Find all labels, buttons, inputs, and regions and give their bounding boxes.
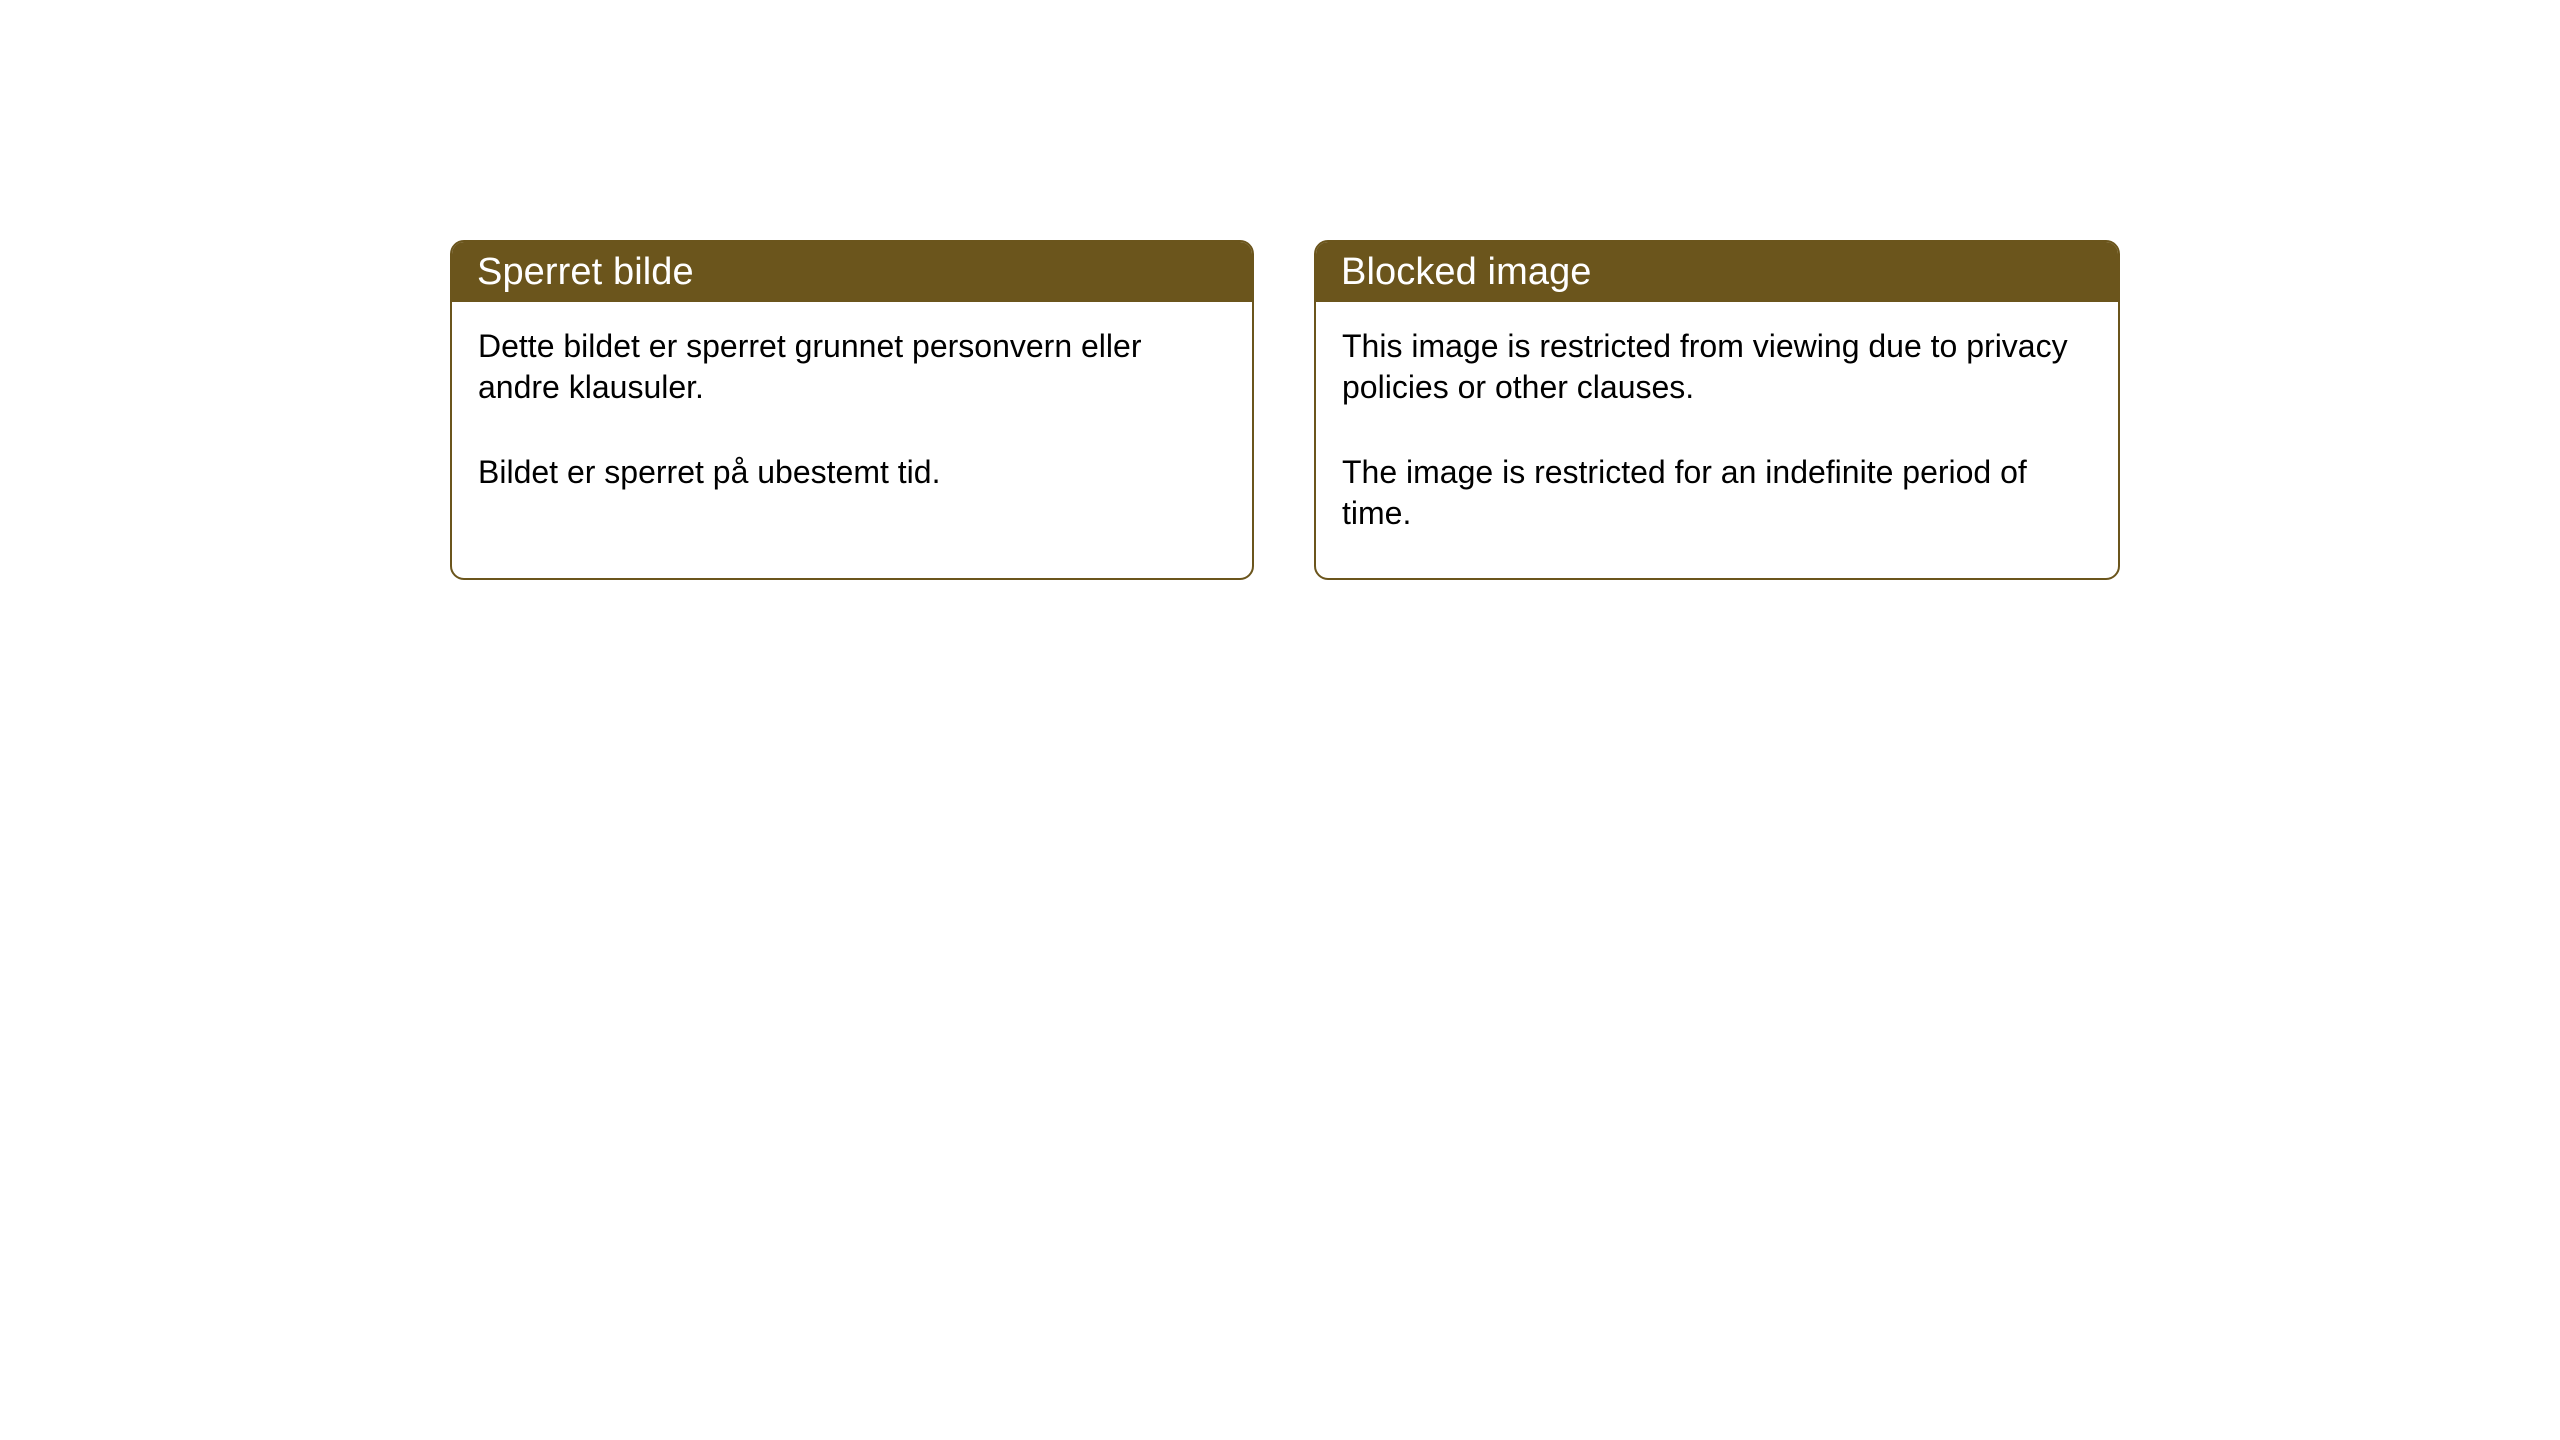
notice-paragraph-duration-no: Bildet er sperret på ubestemt tid.	[478, 452, 1226, 493]
notice-paragraph-duration-en: The image is restricted for an indefinit…	[1342, 452, 2092, 534]
notice-title-no: Sperret bilde	[477, 253, 694, 291]
blocked-image-notice-no: Sperret bilde Dette bildet er sperret gr…	[450, 240, 1254, 580]
notice-paragraph-reason-no: Dette bildet er sperret grunnet personve…	[478, 326, 1226, 408]
notice-paragraph-reason-en: This image is restricted from viewing du…	[1342, 326, 2092, 408]
blocked-image-notices: Sperret bilde Dette bildet er sperret gr…	[450, 240, 2120, 580]
blocked-image-notice-en: Blocked image This image is restricted f…	[1314, 240, 2120, 580]
notice-body-no: Dette bildet er sperret grunnet personve…	[452, 302, 1252, 578]
notice-header-no: Sperret bilde	[452, 242, 1252, 302]
notice-body-en: This image is restricted from viewing du…	[1316, 302, 2118, 578]
notice-header-en: Blocked image	[1316, 242, 2118, 302]
notice-title-en: Blocked image	[1341, 253, 1592, 291]
